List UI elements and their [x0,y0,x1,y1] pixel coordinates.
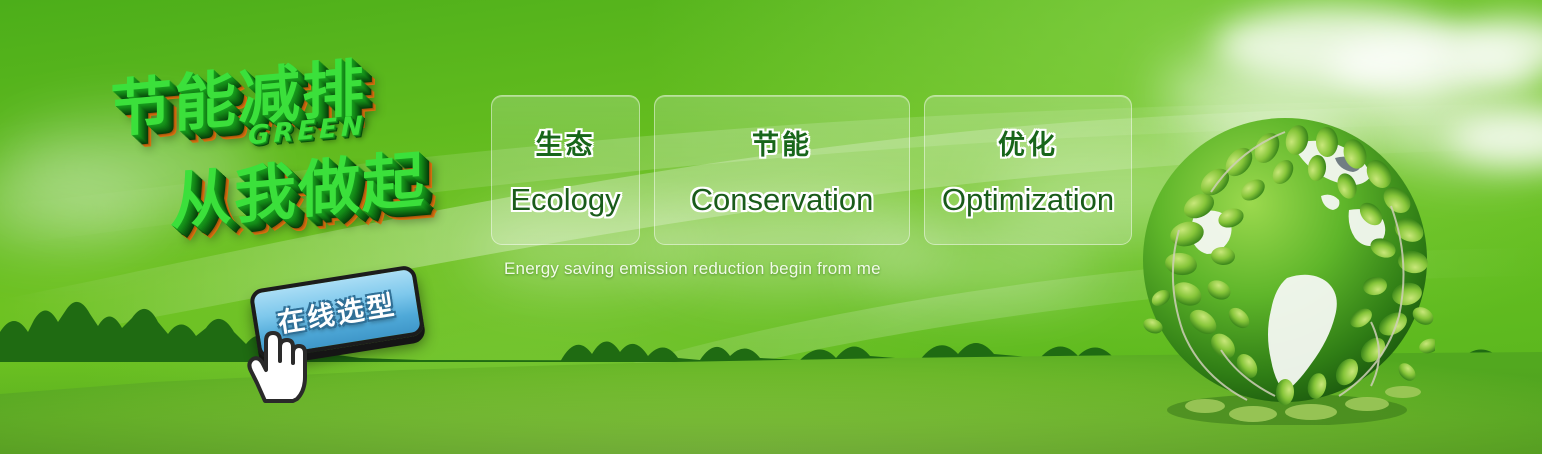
feature-card-ecology[interactable]: 生态 Ecology [491,95,640,245]
feature-card-conservation-cn: 节能 [752,123,812,162]
online-selection-button-wrap[interactable]: 在线选型 [248,264,425,360]
feature-card-optimization[interactable]: 优化 Optimization [924,95,1132,245]
feature-card-ecology-en: Ecology [510,182,620,218]
feature-card-optimization-en: Optimization [942,182,1114,218]
feature-card-ecology-cn: 生态 [536,123,596,162]
feature-card-optimization-cn: 优化 [998,123,1058,162]
green-banner: 节能减排 GREEN 从我做起 在线选型 生态 Ecology 节能 Conse… [0,0,1542,454]
headline-3d: 节能减排 GREEN 从我做起 [96,40,496,270]
headline-line-2: 从我做起 [170,129,426,241]
feature-cards: 生态 Ecology 节能 Conservation 优化 Optimizati… [491,95,1132,245]
tagline: Energy saving emission reduction begin f… [504,259,881,279]
online-selection-button[interactable]: 在线选型 [248,264,425,360]
feature-card-conservation-en: Conservation [691,182,874,218]
feature-card-conservation[interactable]: 节能 Conservation [654,95,910,245]
leafy-globe-icon [1135,110,1435,425]
